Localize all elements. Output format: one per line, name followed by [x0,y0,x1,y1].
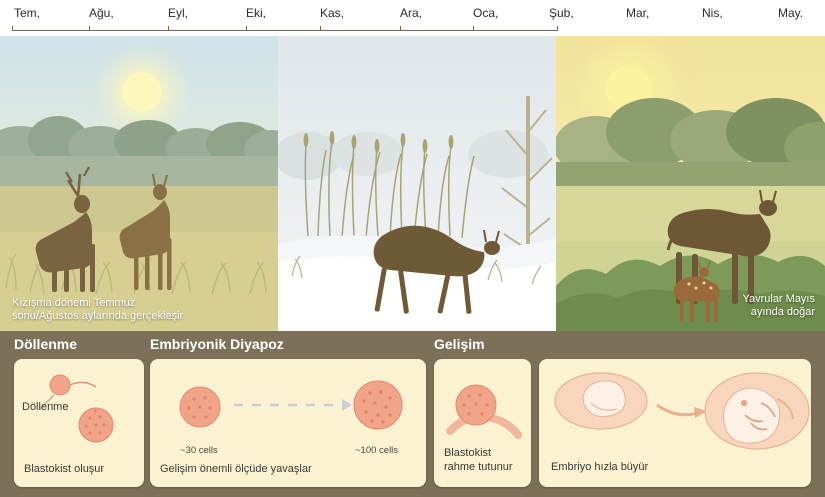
label-100-cells: ~100 cells [355,445,398,456]
timeline-month-eki: Eki, [246,6,266,20]
timeline-tick [473,26,474,31]
spring-scenery [556,36,825,331]
timeline: Tem, Ağu, Eyl, Eki, Kas, Ara, Oca, Şub, … [0,0,825,40]
caption-birth-line2: ayında doğar [742,306,815,319]
card-growth: Embriyo hızla büyür [539,359,811,487]
timeline-tick [246,26,247,31]
card-fertilization: Döllenme Blastokist oluşur [14,359,144,487]
timeline-labels: Tem, Ağu, Eyl, Eki, Kas, Ara, Oca, Şub, … [0,6,825,24]
caption-implantation-line2: rahme tutunur [444,461,512,474]
caption-development-slows: Gelişim önemli ölçüde yavaşlar [160,463,312,476]
timeline-month-tem: Tem, [14,6,40,20]
caption-implantation-line1: Blastokist [444,447,491,460]
caption-birth-line1: Yavrular Mayıs [742,293,815,306]
caption-blastocyst-forms: Blastokist oluşur [24,463,104,476]
timeline-tick [12,26,13,31]
timeline-axis-line [12,30,558,31]
timeline-tick [320,26,321,31]
label-fertilization-inline: Döllenme [22,401,68,414]
caption-birth-season: Yavrular Mayıs ayında doğar [742,293,815,319]
timeline-month-oca: Oca, [473,6,498,20]
implantation-diagram [434,365,531,451]
timeline-tick [89,26,90,31]
timeline-month-eyl: Eyl, [168,6,188,20]
card-implantation: Blastokist rahme tutunur [434,359,531,487]
scene-panel-spring [556,36,825,331]
timeline-tick [168,26,169,31]
section-title-fertilization: Döllenme [14,336,77,352]
scene-illustration: Kızışma dönemi Temmuz sonu/Ağustos aylar… [0,36,825,331]
stages-strip: Döllenme Embriyonik Diyapoz Gelişim [0,331,825,497]
infographic-root: Tem, Ağu, Eyl, Eki, Kas, Ara, Oca, Şub, … [0,0,825,497]
timeline-month-kas: Kas, [320,6,344,20]
timeline-month-agu: Ağu, [89,6,114,20]
timeline-month-may: May. [778,6,803,20]
section-title-diapause: Embriyonik Diyapoz [150,336,284,352]
summer-treeline [0,36,278,331]
card-diapause: ~30 cells ~100 cells Gelişim önemli ölçü… [150,359,426,487]
scene-panel-winter [278,36,556,331]
timeline-month-ara: Ara, [400,6,422,20]
label-30-cells: ~30 cells [180,445,218,456]
timeline-month-sub: Şub, [549,6,574,20]
diapause-diagram [150,365,426,455]
timeline-month-mar: Mar, [626,6,649,20]
winter-scenery [278,36,556,331]
section-title-development: Gelişim [434,336,485,352]
timeline-tick [400,26,401,31]
timeline-tick [557,26,558,31]
caption-embryo-grows: Embriyo hızla büyür [551,461,648,474]
embryo-growth-diagram [539,363,811,455]
timeline-month-nis: Nis, [702,6,723,20]
scene-panel-summer [0,36,278,331]
caption-rut-line2: sonu/Ağustos aylarında gerçekleşir [12,310,183,323]
caption-rut-season: Kızışma dönemi Temmuz sonu/Ağustos aylar… [12,297,183,323]
caption-rut-line1: Kızışma dönemi Temmuz [12,297,183,310]
